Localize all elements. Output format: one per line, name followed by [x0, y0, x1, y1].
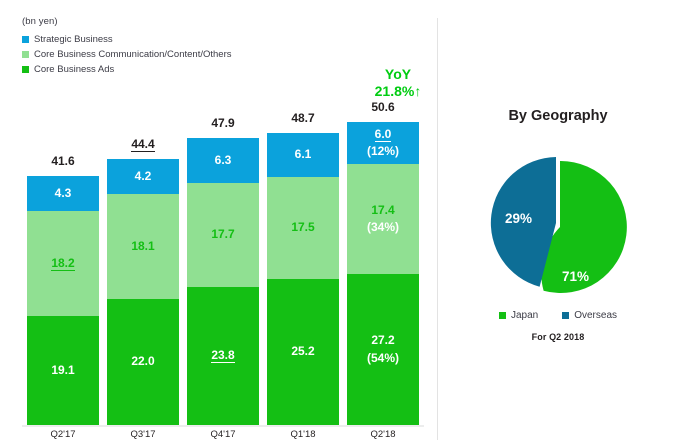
- bar-group-q1-18: 48.7 6.1 17.5 25.2: [267, 133, 339, 425]
- bar-segment-value: 25.2: [291, 343, 314, 360]
- bar-segment-share: (12%): [367, 143, 399, 160]
- slide-canvas: (bn yen) Strategic Business Core Busines…: [0, 0, 679, 448]
- bar-segment-value: 6.0: [375, 126, 392, 143]
- bar-segment-strategic-business[interactable]: 6.1: [267, 133, 339, 177]
- stacked-bar-chart-panel: (bn yen) Strategic Business Core Busines…: [0, 0, 437, 448]
- bar-total-label: 47.9: [187, 116, 259, 130]
- pie-chart-footnote: For Q2 2018: [437, 332, 679, 342]
- category-label-q4-17: Q4'17: [187, 429, 259, 440]
- bar-segment-value: 4.2: [135, 168, 152, 185]
- bar-segment-value: 19.1: [51, 362, 74, 379]
- legend-item-japan: Japan: [499, 310, 538, 321]
- bar-total-label: 48.7: [267, 111, 339, 125]
- category-label-q3-17: Q3'17: [107, 429, 179, 440]
- bar-segment-value: 17.7: [211, 226, 234, 243]
- pie-chart-panel: By Geography 71% 29% Japan Overseas For …: [437, 0, 679, 448]
- bar-segment-core-ads[interactable]: 22.0: [107, 299, 179, 425]
- bar-segment-value: 18.1: [131, 238, 154, 255]
- pie-slice-label-overseas: 29%: [505, 211, 532, 226]
- bar-group-q2-17: 41.6 4.3 18.2 19.1: [27, 176, 99, 425]
- bar-segment-core-communication[interactable]: 18.2: [27, 211, 99, 316]
- bar-segment-strategic-business[interactable]: 4.3: [27, 176, 99, 211]
- category-label-q2-17: Q2'17: [27, 429, 99, 440]
- bar-group-q2-18: 50.6 6.0 (12%) 17.4 (34%) 27.2 (54%): [347, 122, 419, 425]
- bar-segment-value: 18.2: [51, 255, 74, 272]
- bar-segment-value: 27.2: [371, 332, 394, 349]
- bar-group-q3-17: 44.4 4.2 18.1 22.0: [107, 159, 179, 425]
- bar-segment-value: 22.0: [131, 353, 154, 370]
- legend-label: Japan: [511, 310, 538, 321]
- bar-segment-value: 6.1: [295, 146, 312, 163]
- bar-segment-value: 23.8: [211, 347, 234, 364]
- bar-segment-core-communication[interactable]: 17.4 (34%): [347, 164, 419, 274]
- bar-segment-share: (54%): [367, 350, 399, 367]
- bar-segment-strategic-business[interactable]: 4.2: [107, 159, 179, 194]
- bar-segment-value: 6.3: [215, 152, 232, 169]
- bar-segment-value: 17.5: [291, 219, 314, 236]
- x-axis-line: [22, 425, 424, 427]
- bar-total-label: 44.4: [107, 137, 179, 151]
- bar-segment-strategic-business[interactable]: 6.3: [187, 138, 259, 183]
- category-label-q2-18: Q2'18: [347, 429, 419, 440]
- square-swatch-icon: [562, 312, 569, 319]
- legend-label: Overseas: [574, 310, 617, 321]
- pie-svg: [478, 145, 638, 305]
- bar-series-area: 41.6 4.3 18.2 19.1 Q2'17 44.4 4.: [0, 0, 437, 448]
- bar-segment-value: 4.3: [55, 185, 72, 202]
- bar-segment-core-ads[interactable]: 25.2: [267, 279, 339, 425]
- bar-segment-core-communication[interactable]: 17.5: [267, 177, 339, 279]
- bar-segment-share: (34%): [367, 219, 399, 236]
- square-swatch-icon: [499, 312, 506, 319]
- legend-item-overseas: Overseas: [562, 310, 617, 321]
- category-label-q1-18: Q1'18: [267, 429, 339, 440]
- bar-segment-core-ads[interactable]: 19.1: [27, 316, 99, 425]
- bar-segment-core-communication[interactable]: 18.1: [107, 194, 179, 299]
- bar-total-label: 50.6: [347, 100, 419, 114]
- pie-slice-label-japan: 71%: [562, 269, 589, 284]
- bar-segment-strategic-business[interactable]: 6.0 (12%): [347, 122, 419, 164]
- pie-chart-title: By Geography: [437, 108, 679, 124]
- bar-segment-core-communication[interactable]: 17.7: [187, 183, 259, 287]
- pie-chart-legend: Japan Overseas: [437, 310, 679, 321]
- bar-group-q4-17: 47.9 6.3 17.7 23.8: [187, 138, 259, 425]
- pie-chart-graphic: 71% 29%: [478, 145, 638, 305]
- bar-segment-core-ads[interactable]: 23.8: [187, 287, 259, 425]
- bar-segment-core-ads[interactable]: 27.2 (54%): [347, 274, 419, 425]
- bar-total-label: 41.6: [27, 154, 99, 168]
- bar-segment-value: 17.4: [371, 202, 394, 219]
